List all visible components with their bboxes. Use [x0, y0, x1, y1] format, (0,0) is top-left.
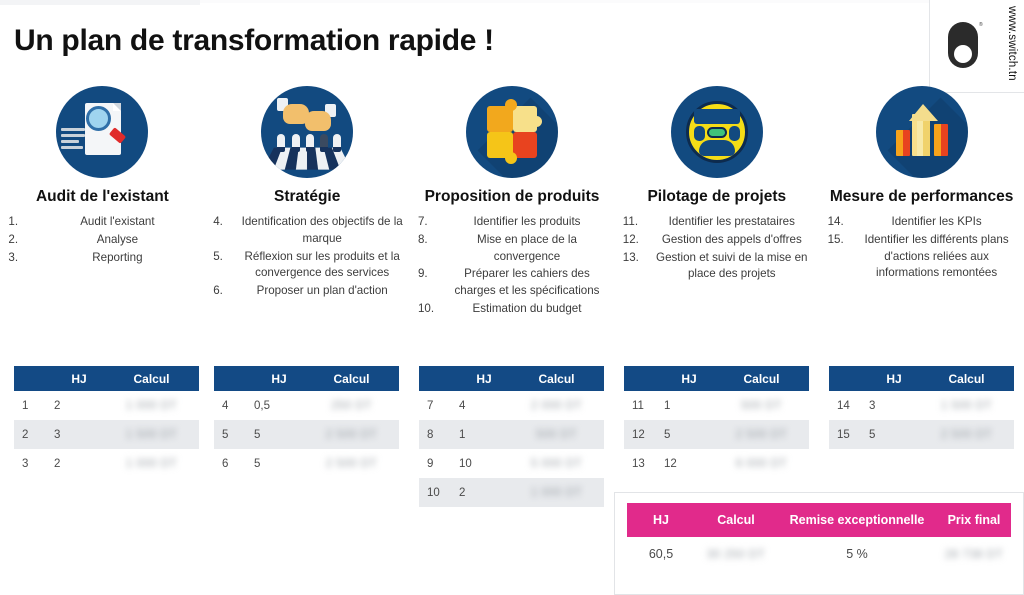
- switch-logo-icon: [948, 22, 978, 68]
- list-item: 3. Reporting: [4, 250, 200, 267]
- cell-hj: 1: [459, 429, 509, 441]
- cell-calcul: 2 500 DT: [919, 429, 1014, 441]
- list-item: 1. Audit l'existant: [4, 214, 200, 231]
- list-item: 11. Identifier les prestataires: [619, 214, 815, 231]
- cell-hj: 3: [869, 400, 919, 412]
- table-proposition: HJ Calcul 7 4 2 000 DT 8 1 500 DT 9 10 5…: [419, 366, 604, 507]
- document-magnifier-icon: [56, 86, 148, 178]
- list-item-number: 8.: [414, 232, 444, 249]
- summary-table: HJ Calcul Remise exceptionnelle Prix fin…: [614, 492, 1024, 595]
- cell-index: 15: [829, 429, 869, 441]
- slide-top-edge-right: [200, 0, 930, 3]
- cell-hj: 5: [664, 429, 714, 441]
- list-item-label: Gestion des appels d'offres: [649, 232, 815, 249]
- column-header-hj: HJ: [459, 372, 509, 386]
- cell-calcul: 2 500 DT: [714, 429, 809, 441]
- list-item-number: 3.: [4, 250, 34, 267]
- column-list: 1. Audit l'existant 2. Analyse 3. Report…: [4, 214, 200, 267]
- table-row: 8 1 500 DT: [419, 420, 604, 449]
- cell-hj: 3: [54, 429, 104, 441]
- list-item: 4. Identification des objectifs de la ma…: [209, 214, 405, 248]
- column-list: 11. Identifier les prestataires 12. Gest…: [619, 214, 815, 284]
- cell-calcul-blurred: 250 DT: [331, 400, 372, 412]
- cell-calcul-blurred: 1 000 DT: [126, 458, 177, 470]
- list-item: 5. Réflexion sur les produits et la conv…: [209, 249, 405, 283]
- column-title: Mesure de performances: [830, 188, 1014, 206]
- cell-index: 8: [419, 429, 459, 441]
- column-list: 4. Identification des objectifs de la ma…: [209, 214, 405, 301]
- cell-hj: 5: [869, 429, 919, 441]
- cell-calcul-blurred: 2 500 DT: [326, 429, 377, 441]
- list-item-label: Proposer un plan d'action: [239, 283, 405, 300]
- cell-index: 1: [14, 400, 54, 412]
- table-row: 5 5 2 500 DT: [214, 420, 399, 449]
- list-item-label: Préparer les cahiers des charges et les …: [444, 266, 610, 300]
- column-header-calcul: Calcul: [919, 372, 1014, 386]
- cell-calcul-blurred: 2 000 DT: [531, 400, 582, 412]
- table-row: 6 5 2 500 DT: [214, 449, 399, 478]
- list-item-number: 13.: [619, 250, 649, 267]
- cell-hj: 12: [664, 458, 714, 470]
- column-header-hj: HJ: [254, 372, 304, 386]
- cell-calcul-blurred: 2 500 DT: [941, 429, 992, 441]
- cell-hj: 10: [459, 458, 509, 470]
- cell-index: 10: [419, 487, 459, 499]
- column-list: 7. Identifier les produits 8. Mise en pl…: [414, 214, 610, 319]
- list-item: 10. Estimation du budget: [414, 301, 610, 318]
- cell-calcul-blurred: 2 500 DT: [736, 429, 787, 441]
- slide-top-edge-left: [0, 0, 200, 5]
- cell-calcul-blurred: 1 000 DT: [126, 400, 177, 412]
- list-item-label: Audit l'existant: [34, 214, 200, 231]
- list-item: 9. Préparer les cahiers des charges et l…: [414, 266, 610, 300]
- table-row: 11 1 500 DT: [624, 391, 809, 420]
- column-header-calcul: Calcul: [304, 372, 399, 386]
- table-header-row: HJ Calcul: [419, 366, 604, 391]
- cell-index: 11: [624, 400, 664, 412]
- summary-cell-prix: 28 738 DT: [937, 547, 1011, 561]
- table-row: 3 2 1 000 DT: [14, 449, 199, 478]
- cell-hj: 5: [254, 458, 304, 470]
- list-item: 15. Identifier les différents plans d'ac…: [824, 232, 1020, 282]
- list-item-number: 12.: [619, 232, 649, 249]
- summary-cell-prix-blurred: 28 738 DT: [945, 549, 1003, 561]
- list-item-label: Identifier les produits: [444, 214, 610, 231]
- cell-calcul: 5 000 DT: [509, 458, 604, 470]
- list-item-label: Identifier les KPIs: [854, 214, 1020, 231]
- list-item-number: 9.: [414, 266, 444, 283]
- cell-calcul: 2 500 DT: [304, 429, 399, 441]
- column-list: 14. Identifier les KPIs 15. Identifier l…: [824, 214, 1020, 283]
- cell-calcul: 1 000 DT: [104, 400, 199, 412]
- steering-wheel-icon: [671, 86, 763, 178]
- list-item-number: 11.: [619, 214, 649, 231]
- summary-cell-calcul-blurred: 30 250 DT: [707, 549, 765, 561]
- summary-header-prix: Prix final: [937, 513, 1011, 527]
- list-item-number: 6.: [209, 283, 239, 300]
- summary-cell-remise: 5 %: [777, 547, 937, 561]
- summary-header-hj: HJ: [627, 513, 695, 527]
- table-header-row: HJ Calcul: [829, 366, 1014, 391]
- list-item-label: Réflexion sur les produits et la converg…: [239, 249, 405, 283]
- column-title: Proposition de produits: [425, 188, 600, 206]
- column-proposition: Proposition de produits 7. Identifier le…: [410, 86, 615, 319]
- list-item-label: Analyse: [34, 232, 200, 249]
- list-item-number: 15.: [824, 232, 854, 249]
- cell-calcul-blurred: 2 500 DT: [326, 458, 377, 470]
- column-mesure: Mesure de performances 14. Identifier le…: [819, 86, 1024, 319]
- list-item-number: 1.: [4, 214, 34, 231]
- list-item-number: 14.: [824, 214, 854, 231]
- table-row: 2 3 1 500 DT: [14, 420, 199, 449]
- page-title: Un plan de transformation rapide !: [14, 24, 494, 58]
- column-header-hj: HJ: [664, 372, 714, 386]
- list-item-label: Identifier les prestataires: [649, 214, 815, 231]
- summary-header-remise: Remise exceptionnelle: [777, 513, 937, 527]
- list-item-number: 10.: [414, 301, 444, 318]
- slide-canvas: ® www.switch.tn Un plan de transformatio…: [0, 0, 1024, 595]
- table-row: 15 5 2 500 DT: [829, 420, 1014, 449]
- column-header-hj: HJ: [869, 372, 919, 386]
- cell-index: 13: [624, 458, 664, 470]
- cell-index: 2: [14, 429, 54, 441]
- cell-index: 12: [624, 429, 664, 441]
- bar-chart-arrow-icon: [876, 86, 968, 178]
- column-header-calcul: Calcul: [509, 372, 604, 386]
- site-url-label: www.switch.tn: [1006, 6, 1018, 81]
- cell-index: 7: [419, 400, 459, 412]
- column-pilotage: Pilotage de projets 11. Identifier les p…: [614, 86, 819, 319]
- summary-header-row: HJ Calcul Remise exceptionnelle Prix fin…: [627, 503, 1011, 537]
- table-pilotage: HJ Calcul 11 1 500 DT 12 5 2 500 DT 13 1…: [624, 366, 809, 478]
- puzzle-pieces-icon: [466, 86, 558, 178]
- column-title: Audit de l'existant: [36, 188, 169, 206]
- list-item-number: 4.: [209, 214, 239, 231]
- table-row: 1 2 1 000 DT: [14, 391, 199, 420]
- table-row: 12 5 2 500 DT: [624, 420, 809, 449]
- cell-calcul: 2 500 DT: [304, 458, 399, 470]
- cell-calcul: 6 000 DT: [714, 458, 809, 470]
- cell-calcul: 250 DT: [304, 400, 399, 412]
- table-audit: HJ Calcul 1 2 1 000 DT 2 3 1 500 DT 3 2 …: [14, 366, 199, 478]
- cell-hj: 4: [459, 400, 509, 412]
- cell-hj: 2: [54, 458, 104, 470]
- list-item: 2. Analyse: [4, 232, 200, 249]
- list-item-label: Mise en place de la convergence: [444, 232, 610, 266]
- list-item-label: Identification des objectifs de la marqu…: [239, 214, 405, 248]
- trademark-symbol: ®: [979, 22, 983, 28]
- cell-index: 4: [214, 400, 254, 412]
- columns-container: Audit de l'existant 1. Audit l'existant …: [0, 86, 1024, 319]
- column-header-calcul: Calcul: [104, 372, 199, 386]
- cell-hj: 2: [54, 400, 104, 412]
- list-item: 6. Proposer un plan d'action: [209, 283, 405, 300]
- cell-calcul: 1 000 DT: [104, 458, 199, 470]
- cell-calcul: 500 DT: [714, 400, 809, 412]
- cell-hj: 2: [459, 487, 509, 499]
- table-header-row: HJ Calcul: [214, 366, 399, 391]
- table-row: 14 3 1 500 DT: [829, 391, 1014, 420]
- summary-header-calcul: Calcul: [695, 513, 777, 527]
- column-strategie: Stratégie 4. Identification des objectif…: [205, 86, 410, 319]
- cell-index: 6: [214, 458, 254, 470]
- cell-calcul: 2 000 DT: [509, 400, 604, 412]
- cell-calcul-blurred: 1 000 DT: [531, 487, 582, 499]
- cell-calcul-blurred: 500 DT: [536, 429, 577, 441]
- list-item-number: 2.: [4, 232, 34, 249]
- table-strategie: HJ Calcul 4 0,5 250 DT 5 5 2 500 DT 6 5 …: [214, 366, 399, 478]
- summary-cell-calcul: 30 250 DT: [695, 547, 777, 561]
- cell-hj: 0,5: [254, 400, 304, 412]
- cell-index: 5: [214, 429, 254, 441]
- column-title: Stratégie: [274, 188, 340, 206]
- cell-hj: 1: [664, 400, 714, 412]
- cell-calcul: 1 000 DT: [509, 487, 604, 499]
- cell-calcul: 500 DT: [509, 429, 604, 441]
- list-item-label: Identifier les différents plans d'action…: [854, 232, 1020, 282]
- table-row: 9 10 5 000 DT: [419, 449, 604, 478]
- table-mesure: HJ Calcul 14 3 1 500 DT 15 5 2 500 DT: [829, 366, 1014, 449]
- list-item: 14. Identifier les KPIs: [824, 214, 1020, 231]
- cell-calcul-blurred: 6 000 DT: [736, 458, 787, 470]
- list-item: 13. Gestion et suivi de la mise en place…: [619, 250, 815, 284]
- chess-strategy-icon: [261, 86, 353, 178]
- list-item-label: Gestion et suivi de la mise en place des…: [649, 250, 815, 284]
- list-item: 8. Mise en place de la convergence: [414, 232, 610, 266]
- table-row: 7 4 2 000 DT: [419, 391, 604, 420]
- table-row: 13 12 6 000 DT: [624, 449, 809, 478]
- list-item-number: 7.: [414, 214, 444, 231]
- column-header-hj: HJ: [54, 372, 104, 386]
- list-item-label: Reporting: [34, 250, 200, 267]
- column-audit: Audit de l'existant 1. Audit l'existant …: [0, 86, 205, 319]
- column-header-calcul: Calcul: [714, 372, 809, 386]
- cell-calcul-blurred: 1 500 DT: [126, 429, 177, 441]
- cell-calcul-blurred: 5 000 DT: [531, 458, 582, 470]
- table-row: 10 2 1 000 DT: [419, 478, 604, 507]
- table-header-row: HJ Calcul: [14, 366, 199, 391]
- cell-hj: 5: [254, 429, 304, 441]
- cell-index: 9: [419, 458, 459, 470]
- cell-calcul-blurred: 500 DT: [741, 400, 782, 412]
- cell-index: 3: [14, 458, 54, 470]
- list-item: 7. Identifier les produits: [414, 214, 610, 231]
- list-item-number: 5.: [209, 249, 239, 266]
- cell-index: 14: [829, 400, 869, 412]
- summary-cell-hj: 60,5: [627, 547, 695, 561]
- cell-calcul-blurred: 1 500 DT: [941, 400, 992, 412]
- summary-row: 60,5 30 250 DT 5 % 28 738 DT: [627, 537, 1011, 571]
- cell-calcul: 1 500 DT: [104, 429, 199, 441]
- table-row: 4 0,5 250 DT: [214, 391, 399, 420]
- cell-calcul: 1 500 DT: [919, 400, 1014, 412]
- list-item: 12. Gestion des appels d'offres: [619, 232, 815, 249]
- column-title: Pilotage de projets: [647, 188, 786, 206]
- list-item-label: Estimation du budget: [444, 301, 610, 318]
- table-header-row: HJ Calcul: [624, 366, 809, 391]
